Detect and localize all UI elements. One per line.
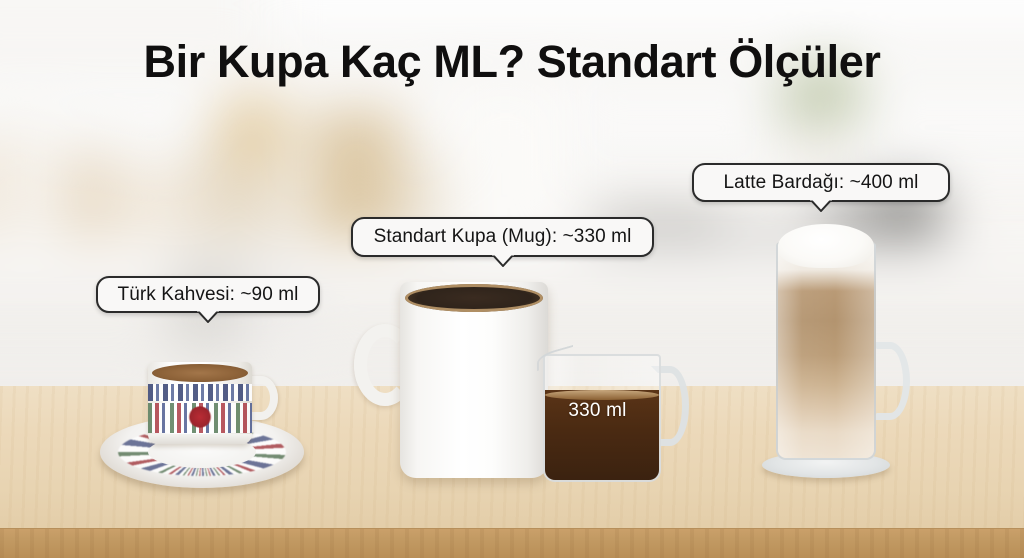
callout-label: Türk Kahvesi: ~90 ml	[118, 284, 299, 306]
cup-floral-motif	[188, 406, 212, 428]
background-jar	[125, 165, 175, 243]
callout-label: Standart Kupa (Mug): ~330 ml	[374, 226, 632, 248]
cup-pattern-band	[148, 384, 252, 401]
coffee-surface	[152, 364, 248, 382]
callout-pointer-tail	[197, 310, 219, 323]
background-jar	[18, 120, 52, 240]
background-jar	[60, 152, 118, 242]
callout-pointer-tail	[810, 199, 832, 212]
callout-latte-glass: Latte Bardağı: ~400 ml	[692, 163, 950, 202]
jug-volume-overlay-label: 330 ml	[533, 400, 662, 422]
mug-crema-ring	[405, 284, 543, 312]
glass-highlight	[778, 244, 874, 458]
callout-pointer-tail	[492, 254, 514, 267]
cup-body	[148, 362, 252, 444]
callout-standard-mug: Standart Kupa (Mug): ~330 ml	[351, 217, 654, 257]
turkish-coffee-cup-icon	[92, 352, 312, 502]
latte-glass-body	[776, 242, 876, 460]
callout-turkish-coffee: Türk Kahvesi: ~90 ml	[96, 276, 320, 313]
measuring-jug-icon: 330 ml	[533, 344, 698, 487]
jug-liquid-surface	[545, 390, 659, 400]
latte-glass-icon	[758, 224, 918, 487]
table-front-edge	[0, 528, 1024, 558]
milk-foam-top	[778, 224, 874, 268]
infographic-scene: 330 ml Türk Kahvesi: ~90 ml Standart Kup…	[0, 0, 1024, 558]
mug-body	[400, 282, 548, 478]
page-title: Bir Kupa Kaç ML? Standart Ölçüler	[0, 36, 1024, 88]
callout-label: Latte Bardağı: ~400 ml	[724, 172, 919, 194]
cup-foot	[148, 434, 252, 444]
latte-glass-handle	[870, 342, 910, 420]
background-jar	[0, 135, 14, 240]
